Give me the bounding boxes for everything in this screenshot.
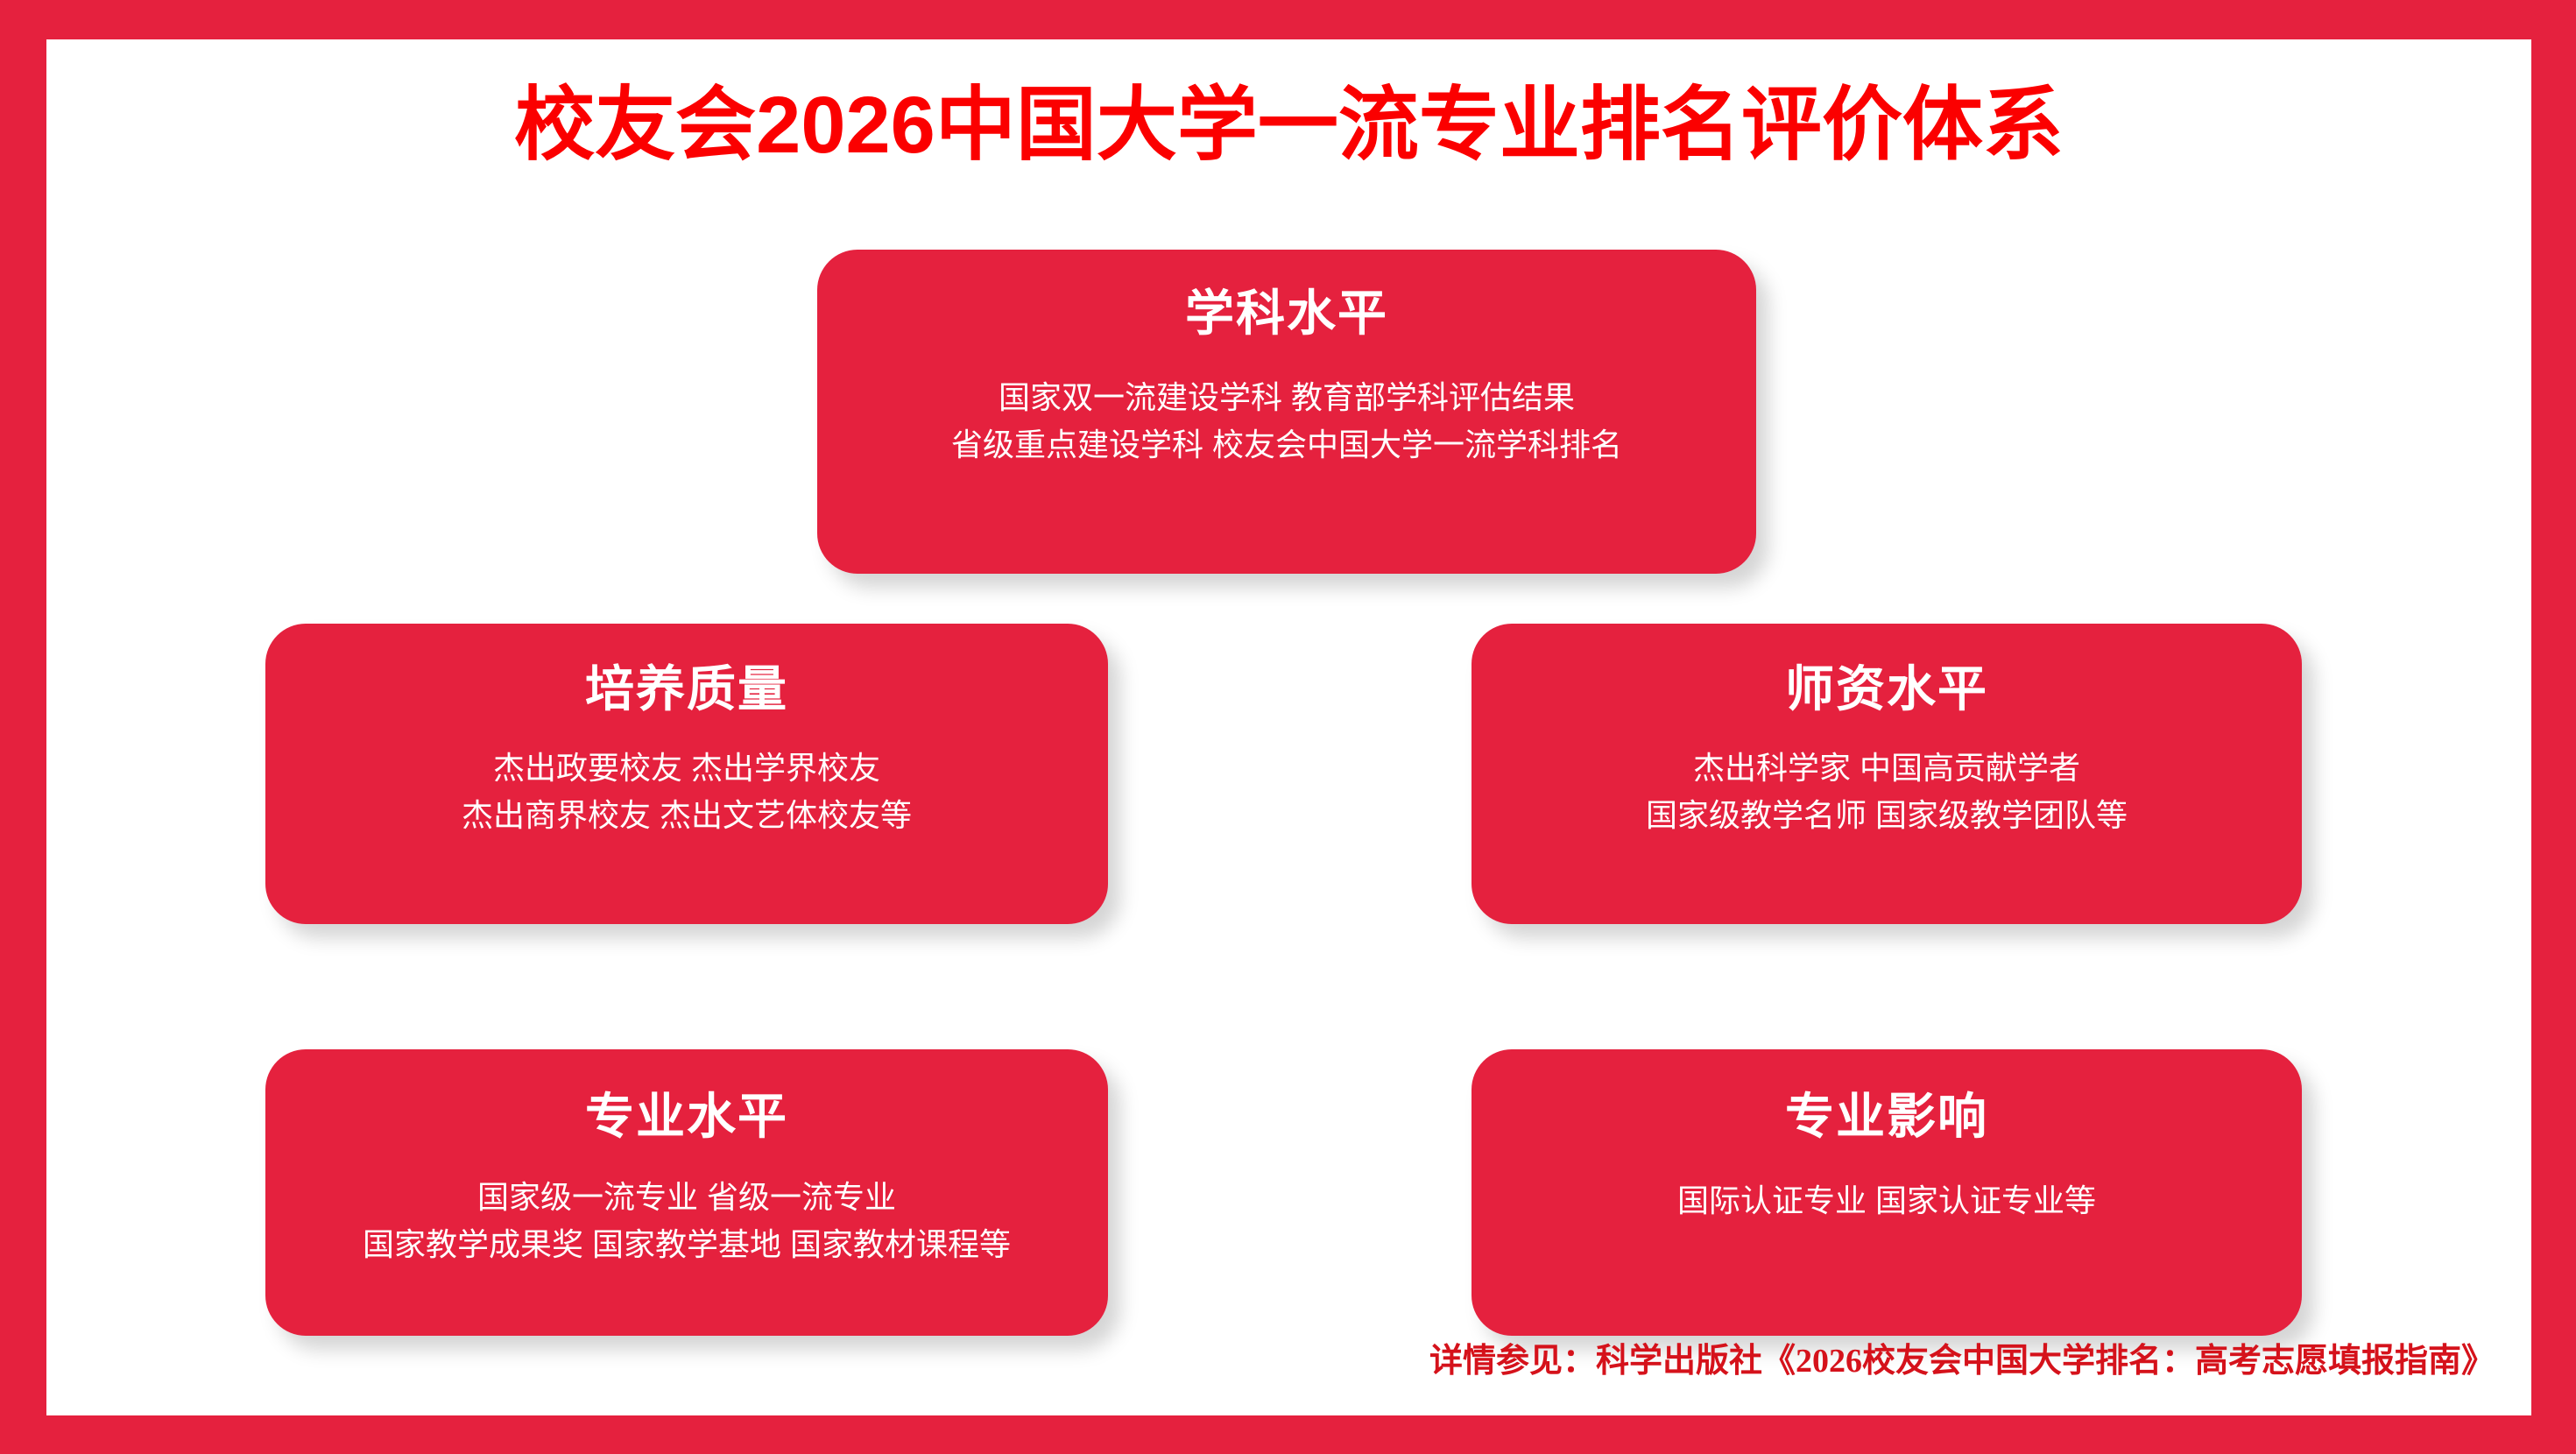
criteria-detail-line: 国家双一流建设学科 教育部学科评估结果	[951, 374, 1622, 422]
criteria-card-title: 专业水平	[585, 1090, 788, 1144]
criteria-card-details: 国家双一流建设学科 教育部学科评估结果 省级重点建设学科 校友会中国大学一流学科…	[951, 374, 1622, 469]
criteria-detail-line: 国家级一流专业 省级一流专业	[363, 1174, 1011, 1222]
source-note: 详情参见：科学出版社《2026校友会中国大学排名：高考志愿填报指南》	[1429, 1342, 2495, 1382]
criteria-detail-line: 杰出科学家 中国高贡献学者	[1646, 745, 2128, 793]
criteria-card-zhuanye-yingxiang[interactable]: 专业影响 国际认证专业 国家认证专业等	[1471, 1049, 2302, 1336]
criteria-card-details: 国家级一流专业 省级一流专业 国家教学成果奖 国家教学基地 国家教材课程等	[363, 1174, 1011, 1269]
criteria-card-title: 培养质量	[585, 662, 788, 716]
criteria-card-title: 专业影响	[1785, 1090, 1988, 1144]
criteria-detail-line: 国家级教学名师 国家级教学团队等	[1646, 792, 2128, 840]
criteria-card-shizi-shuiping[interactable]: 师资水平 杰出科学家 中国高贡献学者 国家级教学名师 国家级教学团队等	[1471, 624, 2302, 924]
criteria-card-details: 杰出科学家 中国高贡献学者 国家级教学名师 国家级教学团队等	[1646, 745, 2128, 840]
criteria-card-title: 学科水平	[1185, 286, 1388, 341]
criteria-card-xueke-shuiping[interactable]: 学科水平 国家双一流建设学科 教育部学科评估结果 省级重点建设学科 校友会中国大…	[817, 250, 1756, 574]
criteria-card-zhuanye-shuiping[interactable]: 专业水平 国家级一流专业 省级一流专业 国家教学成果奖 国家教学基地 国家教材课…	[265, 1049, 1108, 1336]
criteria-detail-line: 国家教学成果奖 国家教学基地 国家教材课程等	[363, 1221, 1011, 1269]
page-title: 校友会2026中国大学一流专业排名评价体系	[46, 80, 2531, 173]
criteria-detail-line: 杰出商界校友 杰出文艺体校友等	[462, 792, 912, 840]
criteria-detail-line: 杰出政要校友 杰出学界校友	[462, 745, 912, 793]
criteria-card-details: 国际认证专业 国家认证专业等	[1677, 1177, 2096, 1225]
criteria-card-details: 杰出政要校友 杰出学界校友 杰出商界校友 杰出文艺体校友等	[462, 745, 912, 840]
criteria-detail-line: 省级重点建设学科 校友会中国大学一流学科排名	[951, 421, 1622, 469]
criteria-card-peiyang-zhiliang[interactable]: 培养质量 杰出政要校友 杰出学界校友 杰出商界校友 杰出文艺体校友等	[265, 624, 1108, 924]
poster-root: 校友会2026中国大学一流专业排名评价体系 学科水平 国家双一流建设学科 教育部…	[0, 0, 2576, 1454]
criteria-detail-line: 国际认证专业 国家认证专业等	[1677, 1177, 2096, 1225]
poster-canvas: 校友会2026中国大学一流专业排名评价体系 学科水平 国家双一流建设学科 教育部…	[46, 39, 2531, 1415]
criteria-card-title: 师资水平	[1785, 662, 1988, 716]
